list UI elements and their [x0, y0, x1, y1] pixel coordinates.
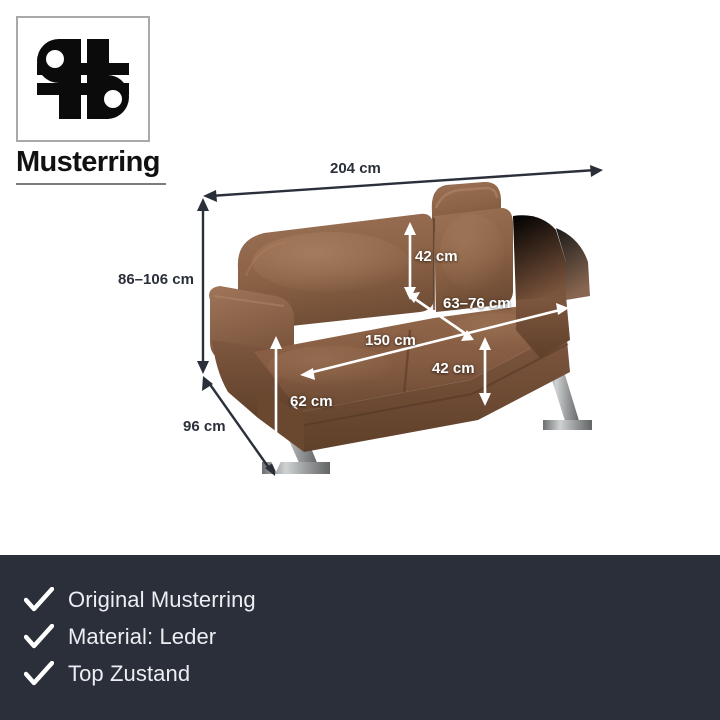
dimension-label-height: 86–106 cm	[118, 271, 194, 288]
product-image: Musterring	[0, 0, 720, 720]
check-icon	[24, 624, 68, 650]
check-icon	[24, 587, 68, 613]
feature-item: Top Zustand	[24, 655, 256, 692]
feature-label: Material: Leder	[68, 624, 216, 650]
check-icon	[24, 661, 68, 687]
dimension-label-seat-height: 42 cm	[432, 360, 475, 377]
feature-label: Top Zustand	[68, 661, 190, 687]
feature-label: Original Musterring	[68, 587, 256, 613]
feature-item: Material: Leder	[24, 618, 256, 655]
dimension-label-width: 204 cm	[330, 160, 381, 177]
dimension-label-depth: 96 cm	[183, 418, 226, 435]
dimension-label-armrest-height: 62 cm	[290, 393, 333, 410]
feature-item: Original Musterring	[24, 581, 256, 618]
dimension-label-seat-width: 150 cm	[365, 332, 416, 349]
feature-list: Original Musterring Material: Leder Top …	[24, 581, 256, 692]
sofa-photo	[0, 0, 720, 555]
info-banner: Original Musterring Material: Leder Top …	[0, 555, 720, 720]
dimension-label-backrest: 42 cm	[415, 248, 458, 265]
dimension-label-seat-depth: 63–76 cm	[443, 295, 511, 312]
